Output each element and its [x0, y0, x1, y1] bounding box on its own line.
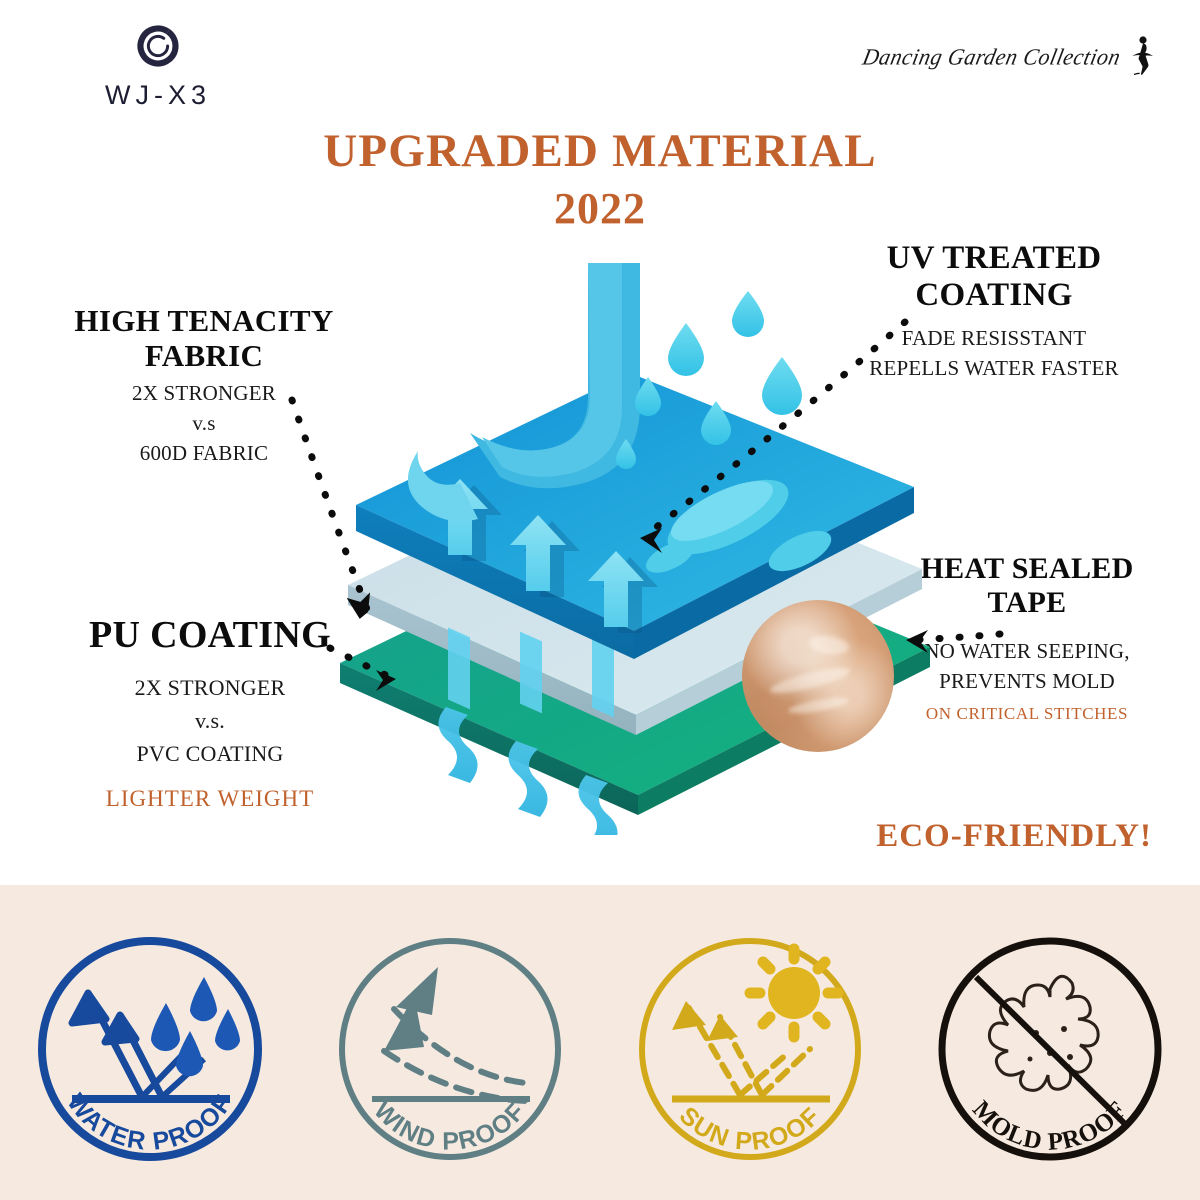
infographic-root: WJ-X3 Dancing Garden Collection UPGRADED… — [0, 0, 1200, 1200]
badge-mold-proof[interactable]: MOLD PROOF — [914, 901, 1186, 1191]
page-title: UPGRADED MATERIAL 2022 — [0, 126, 1200, 234]
badge-water-proof[interactable]: WATER PROOF — [14, 901, 286, 1191]
brand-logo: WJ-X3 — [78, 18, 238, 111]
heat-sealed-seam-photo — [742, 600, 894, 752]
feature-badges-panel: WATER PROOF WIND PROOF — [0, 885, 1200, 1200]
title-line-1: UPGRADED MATERIAL — [0, 126, 1200, 177]
spiral-c-logo-icon — [130, 18, 186, 74]
fabric-layers-diagram — [330, 255, 950, 835]
mold-spore-icon — [989, 976, 1098, 1090]
sun-proof-circle-icon — [642, 941, 858, 1157]
collection-tagline-text: Dancing Garden Collection — [860, 43, 1123, 70]
title-line-2: 2022 — [0, 183, 1200, 234]
mold-proof-slash-icon — [976, 977, 1124, 1123]
badge-wind-proof[interactable]: WIND PROOF — [314, 901, 586, 1191]
ballerina-icon — [1128, 34, 1154, 80]
water-proof-droplets-icon — [151, 977, 240, 1076]
badge-mold-proof-label: MOLD PROOF — [967, 1096, 1133, 1156]
brand-name-text: WJ-X3 — [78, 80, 238, 111]
badge-wind-proof-label: WIND PROOF — [368, 1096, 531, 1155]
badge-sun-proof[interactable]: SUN PROOF — [614, 901, 886, 1191]
wind-proof-circle-icon — [342, 941, 558, 1157]
badge-sun-proof-label: SUN PROOF — [674, 1101, 827, 1156]
sun-icon — [750, 949, 838, 1037]
collection-tagline: Dancing Garden Collection — [863, 34, 1154, 80]
